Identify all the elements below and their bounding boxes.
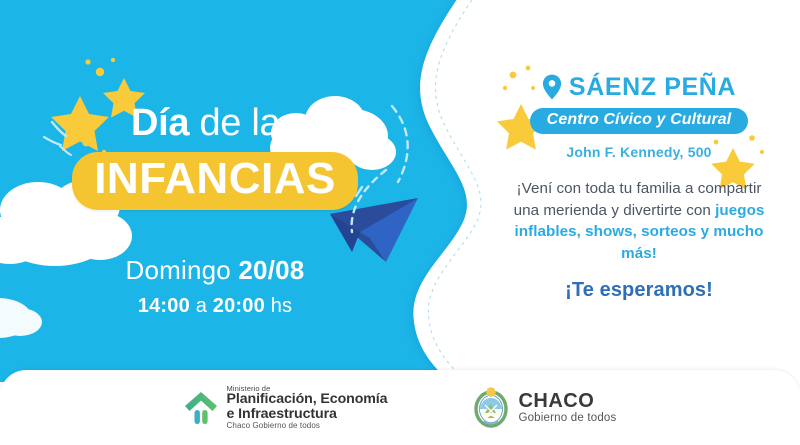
event-flyer: Día de las INFANCIAS Domingo 20/08 14:00… — [0, 0, 800, 445]
venue-name: Centro Cívico y Cultural — [530, 108, 749, 134]
venue-address: John F. Kennedy, 500 — [566, 144, 711, 160]
city-name: SÁENZ PEÑA — [569, 75, 736, 100]
event-time: 14:00 a 20:00 hs — [138, 295, 292, 318]
closing-message: ¡Te esperamos! — [565, 279, 713, 302]
ministry-name-line2: e Infraestructura — [227, 407, 388, 421]
chaco-coat-of-arms-icon — [473, 387, 509, 429]
ministry-subtitle: Chaco Gobierno de todos — [227, 422, 388, 430]
ministry-logo-block: Ministerio de Planificación, Economía e … — [184, 385, 388, 431]
event-time-start: 14:00 — [138, 295, 190, 317]
event-time-end: 20:00 — [213, 295, 265, 317]
event-title-infancias: INFANCIAS — [72, 152, 358, 210]
event-title-dia: Día — [131, 102, 189, 144]
event-title-delas: de las — [189, 102, 299, 144]
location-header: SÁENZ PEÑA — [542, 74, 736, 100]
right-panel-content: SÁENZ PEÑA Centro Cívico y Cultural John… — [478, 0, 800, 382]
province-name: CHACO — [518, 391, 616, 412]
event-date-day-label: Domingo — [126, 255, 239, 285]
location-pin-icon — [542, 74, 562, 100]
event-title-line1: Día de las — [131, 104, 299, 142]
event-time-unit: hs — [265, 295, 292, 317]
ministry-house-logo-icon — [184, 388, 218, 426]
event-date-value: 20/08 — [238, 255, 304, 285]
ministry-name-line1: Planificación, Economía — [227, 392, 388, 406]
ministry-text-block: Ministerio de Planificación, Economía e … — [227, 385, 388, 431]
event-time-separator: a — [190, 295, 213, 317]
event-description: ¡Vení con toda tu familia a compartir un… — [510, 178, 768, 264]
province-subtitle: Gobierno de todos — [518, 412, 616, 424]
footer-logos-bar: Ministerio de Planificación, Economía e … — [0, 370, 800, 445]
province-text-block: CHACO Gobierno de todos — [518, 391, 616, 424]
event-date: Domingo 20/08 — [126, 255, 305, 286]
left-panel-content: Día de las INFANCIAS Domingo 20/08 14:00… — [0, 0, 430, 382]
province-logo-block: CHACO Gobierno de todos — [473, 387, 616, 429]
